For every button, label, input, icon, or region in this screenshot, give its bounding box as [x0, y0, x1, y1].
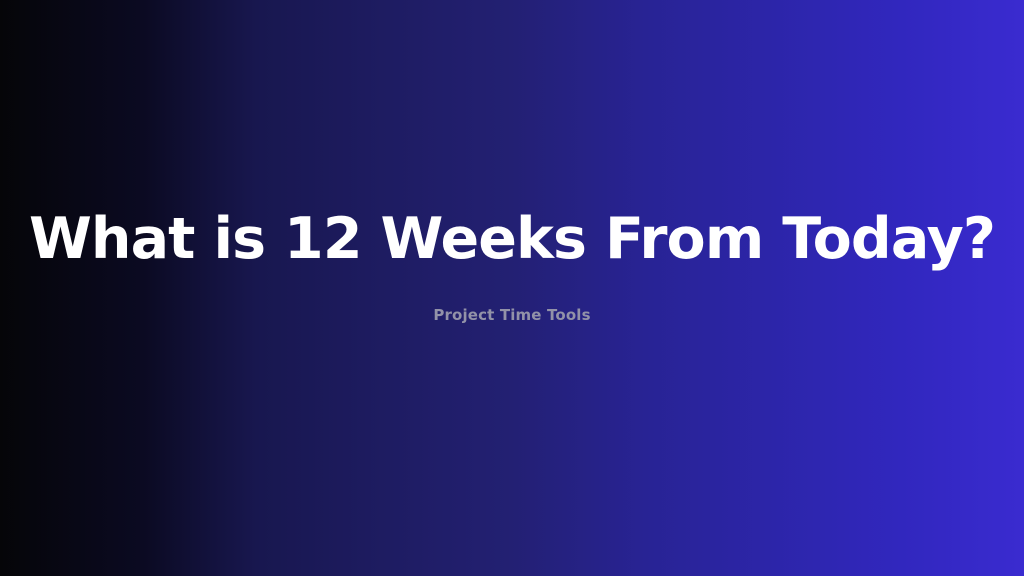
- page-title: What is 12 Weeks From Today?: [29, 206, 995, 273]
- title-slide: What is 12 Weeks From Today? Project Tim…: [0, 0, 1024, 576]
- slide-content-block: What is 12 Weeks From Today? Project Tim…: [0, 206, 1024, 324]
- slide-subtitle: Project Time Tools: [433, 306, 590, 324]
